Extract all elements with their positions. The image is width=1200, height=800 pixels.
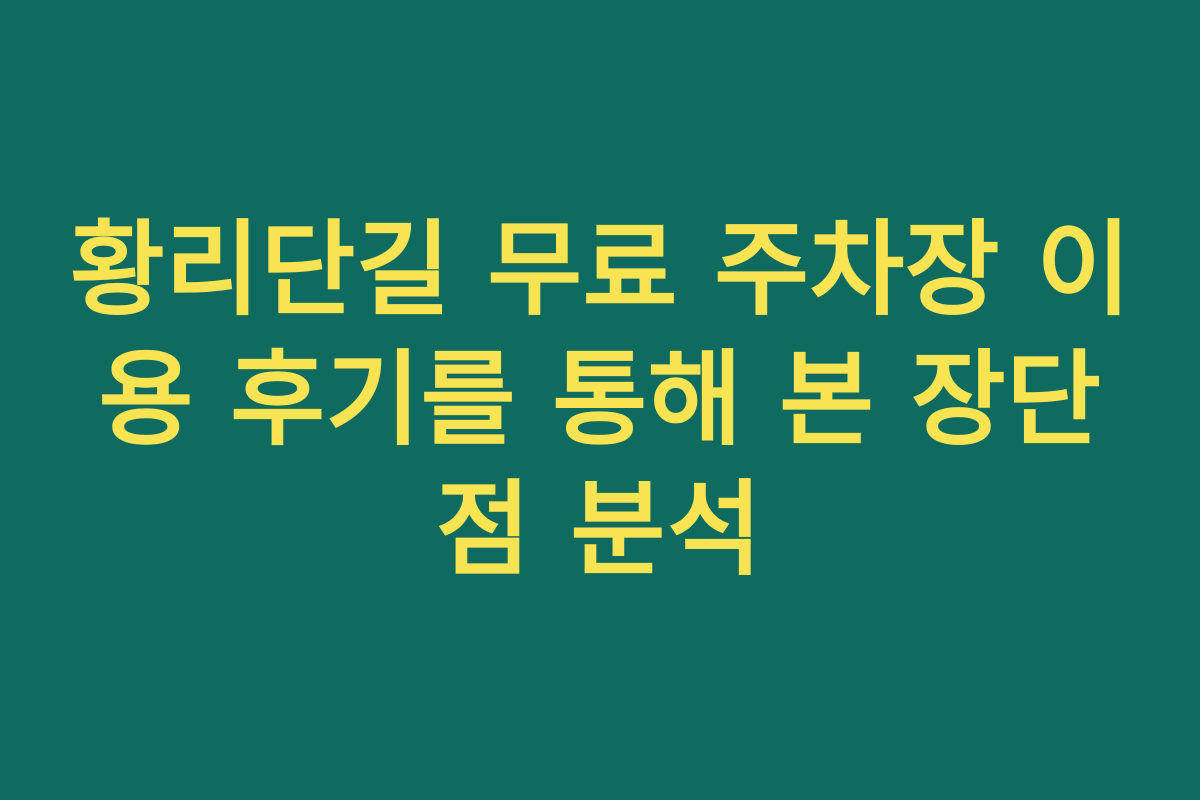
headline-line-3: 점 분석 [70, 465, 1130, 595]
title-card: 황리단길 무료 주차장 이 용 후기를 통해 본 장단 점 분석 [0, 0, 1200, 800]
headline-text: 황리단길 무료 주차장 이 용 후기를 통해 본 장단 점 분석 [70, 205, 1130, 595]
headline-line-1: 황리단길 무료 주차장 이 [70, 205, 1130, 335]
headline-line-2: 용 후기를 통해 본 장단 [70, 335, 1130, 465]
